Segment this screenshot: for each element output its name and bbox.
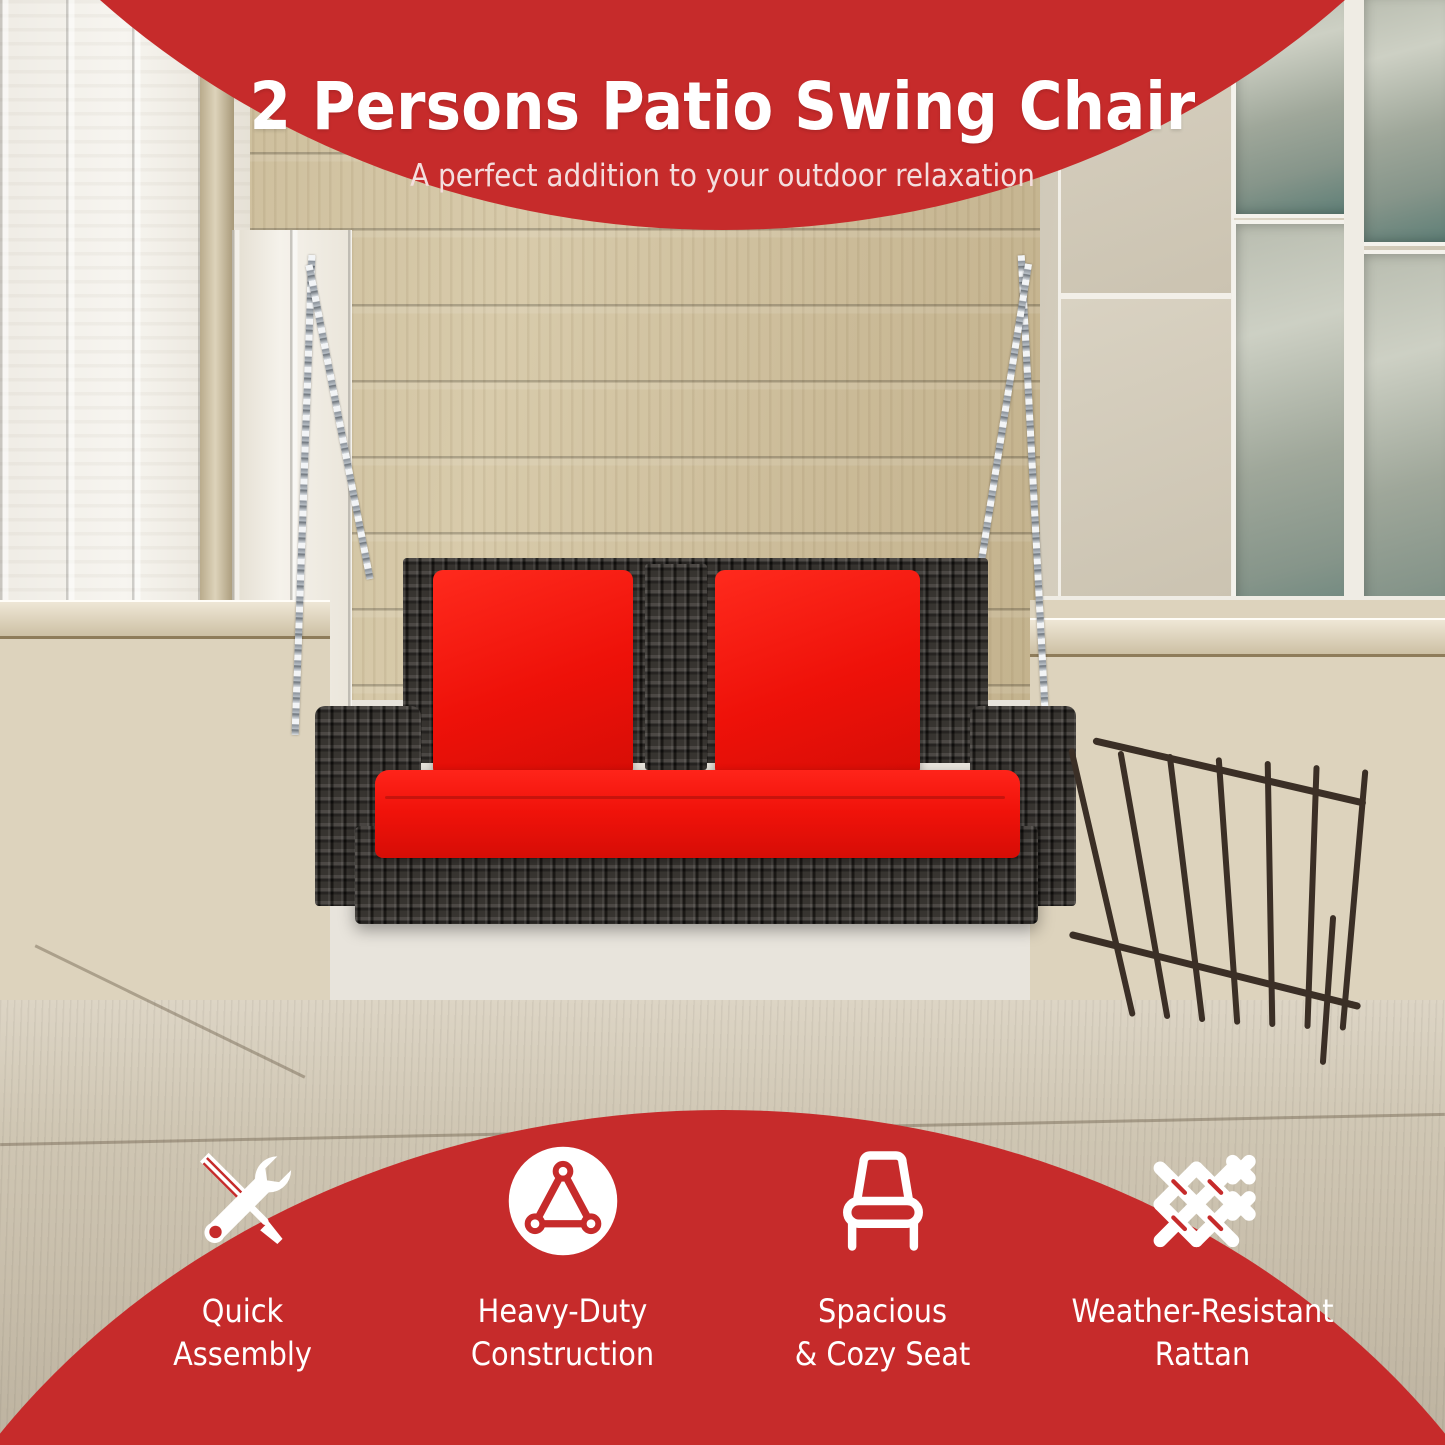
feature-label: Heavy-Duty Construction <box>471 1290 654 1376</box>
stone-cap-left <box>0 600 330 639</box>
feature-label: Weather-Resistant Rattan <box>1071 1290 1333 1376</box>
page-subtitle: A perfect addition to your outdoor relax… <box>0 158 1445 194</box>
triangle-truss-circle-icon <box>507 1140 619 1262</box>
wrench-screwdriver-icon <box>184 1140 302 1262</box>
feature-list: Quick Assembly Heavy-Duty Construction <box>0 1140 1445 1376</box>
feature-label: Quick Assembly <box>173 1290 312 1376</box>
feature-item-quick-assembly: Quick Assembly <box>83 1140 403 1376</box>
chair-back-rail <box>1092 737 1366 807</box>
chair-slat-4 <box>1216 757 1241 1025</box>
seat-cushion-seam <box>385 796 1005 799</box>
seat-cushion <box>375 770 1020 858</box>
chair-seat-curve <box>1069 931 1362 1010</box>
woven-rattan-icon <box>1147 1140 1259 1262</box>
chair-seat-icon <box>831 1140 935 1262</box>
page-title: 2 Persons Patio Swing Chair <box>0 68 1445 145</box>
chair-slat-3 <box>1167 754 1206 1023</box>
porch-swing <box>315 558 1075 903</box>
marketing-infographic: 2 Persons Patio Swing Chair A perfect ad… <box>0 0 1445 1445</box>
throw-pillow-left <box>433 570 633 778</box>
chair-slat-7 <box>1340 769 1369 1031</box>
feature-label: Spacious & Cozy Seat <box>795 1290 971 1376</box>
throw-pillow-right <box>715 570 920 778</box>
chair-front-leg <box>1320 915 1336 1065</box>
window-glass-left <box>1232 220 1358 658</box>
feature-item-heavy-duty: Heavy-Duty Construction <box>403 1140 723 1376</box>
feature-item-spacious-seat: Spacious & Cozy Seat <box>723 1140 1043 1376</box>
stone-cap-right <box>1030 618 1445 657</box>
wire-patio-chair <box>1075 735 1405 1080</box>
feature-item-weather-resistant: Weather-Resistant Rattan <box>1043 1140 1363 1376</box>
swing-center-divider <box>645 564 707 770</box>
wall-panel-lower <box>1058 296 1234 602</box>
